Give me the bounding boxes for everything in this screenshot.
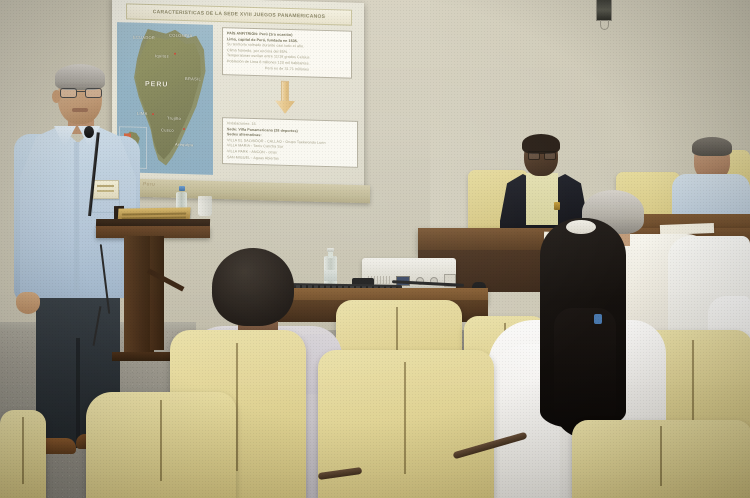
presenter-brow [62, 84, 100, 87]
map-label-arequipa: Arequipa [175, 142, 193, 148]
audience-ponytail [554, 308, 616, 438]
lectern-column-side [150, 236, 164, 350]
map-city-dot [152, 113, 154, 115]
map-label-cusco: Cusco [161, 127, 174, 132]
map-label-peru: PERU [145, 81, 168, 89]
chair-seam [660, 426, 662, 485]
chair-seam [236, 343, 238, 471]
audience-chair [572, 420, 750, 498]
map-label-iquitos: Iquitos [155, 53, 169, 58]
map-city-dot [174, 53, 176, 55]
down-arrow-icon [274, 81, 296, 116]
audience-chair [0, 410, 46, 498]
glasses-lens-right [85, 88, 102, 98]
map-label-colombia: COLOMBIA [169, 33, 193, 39]
chair-seam [404, 362, 406, 474]
map-city-dot [183, 128, 185, 130]
glasses-icon [60, 88, 102, 98]
plaque-line [122, 212, 186, 215]
shirt-placket [74, 142, 79, 292]
ceiling-speaker-icon [596, 0, 612, 21]
presenter [14, 62, 138, 432]
projection-screen: CARACTERISTICAS DE LA SEDE XVIII JUEGOS … [112, 0, 364, 195]
lectern-base [112, 352, 178, 361]
glasses-bridge [77, 91, 85, 92]
map-label-ecuador: ECUADOR [133, 35, 155, 41]
presentation-photo: CARACTERISTICAS DE LA SEDE XVIII JUEGOS … [0, 0, 750, 498]
arrow-shaft [281, 81, 289, 102]
bottle-cap [179, 186, 185, 191]
presenter-mouth [72, 108, 88, 112]
map-label-lima: LIMA [137, 111, 148, 116]
audience-hair [212, 248, 294, 326]
arrow-head [275, 101, 295, 115]
slide-textbox-venues: Instalaciones: 15 Sede: Villa Panamerica… [222, 117, 358, 168]
map-label-brasil: BRASIL [185, 76, 201, 81]
name-badge [93, 180, 119, 199]
audience-chair [86, 392, 236, 498]
slide-textbox-host-country: PAÍS ANFITRIÓN: Perú (1ra ocasión) Lima,… [222, 27, 352, 79]
map-label-trujillo: Trujillo [167, 116, 181, 121]
drinking-glass [198, 196, 212, 216]
presenter-hand [16, 292, 40, 314]
presenter-leg-seam [76, 338, 80, 448]
microphone-icon [84, 126, 94, 138]
glasses-lens-left [60, 88, 77, 98]
hair-tie [566, 220, 596, 234]
badge-clip [594, 314, 602, 324]
panelist-hair [692, 137, 732, 156]
chair-seam [22, 417, 24, 484]
chair-seam [160, 400, 162, 481]
slide-title: CARACTERISTICAS DE LA SEDE XVIII JUEGOS … [153, 9, 325, 20]
glasses-icon [528, 151, 556, 158]
